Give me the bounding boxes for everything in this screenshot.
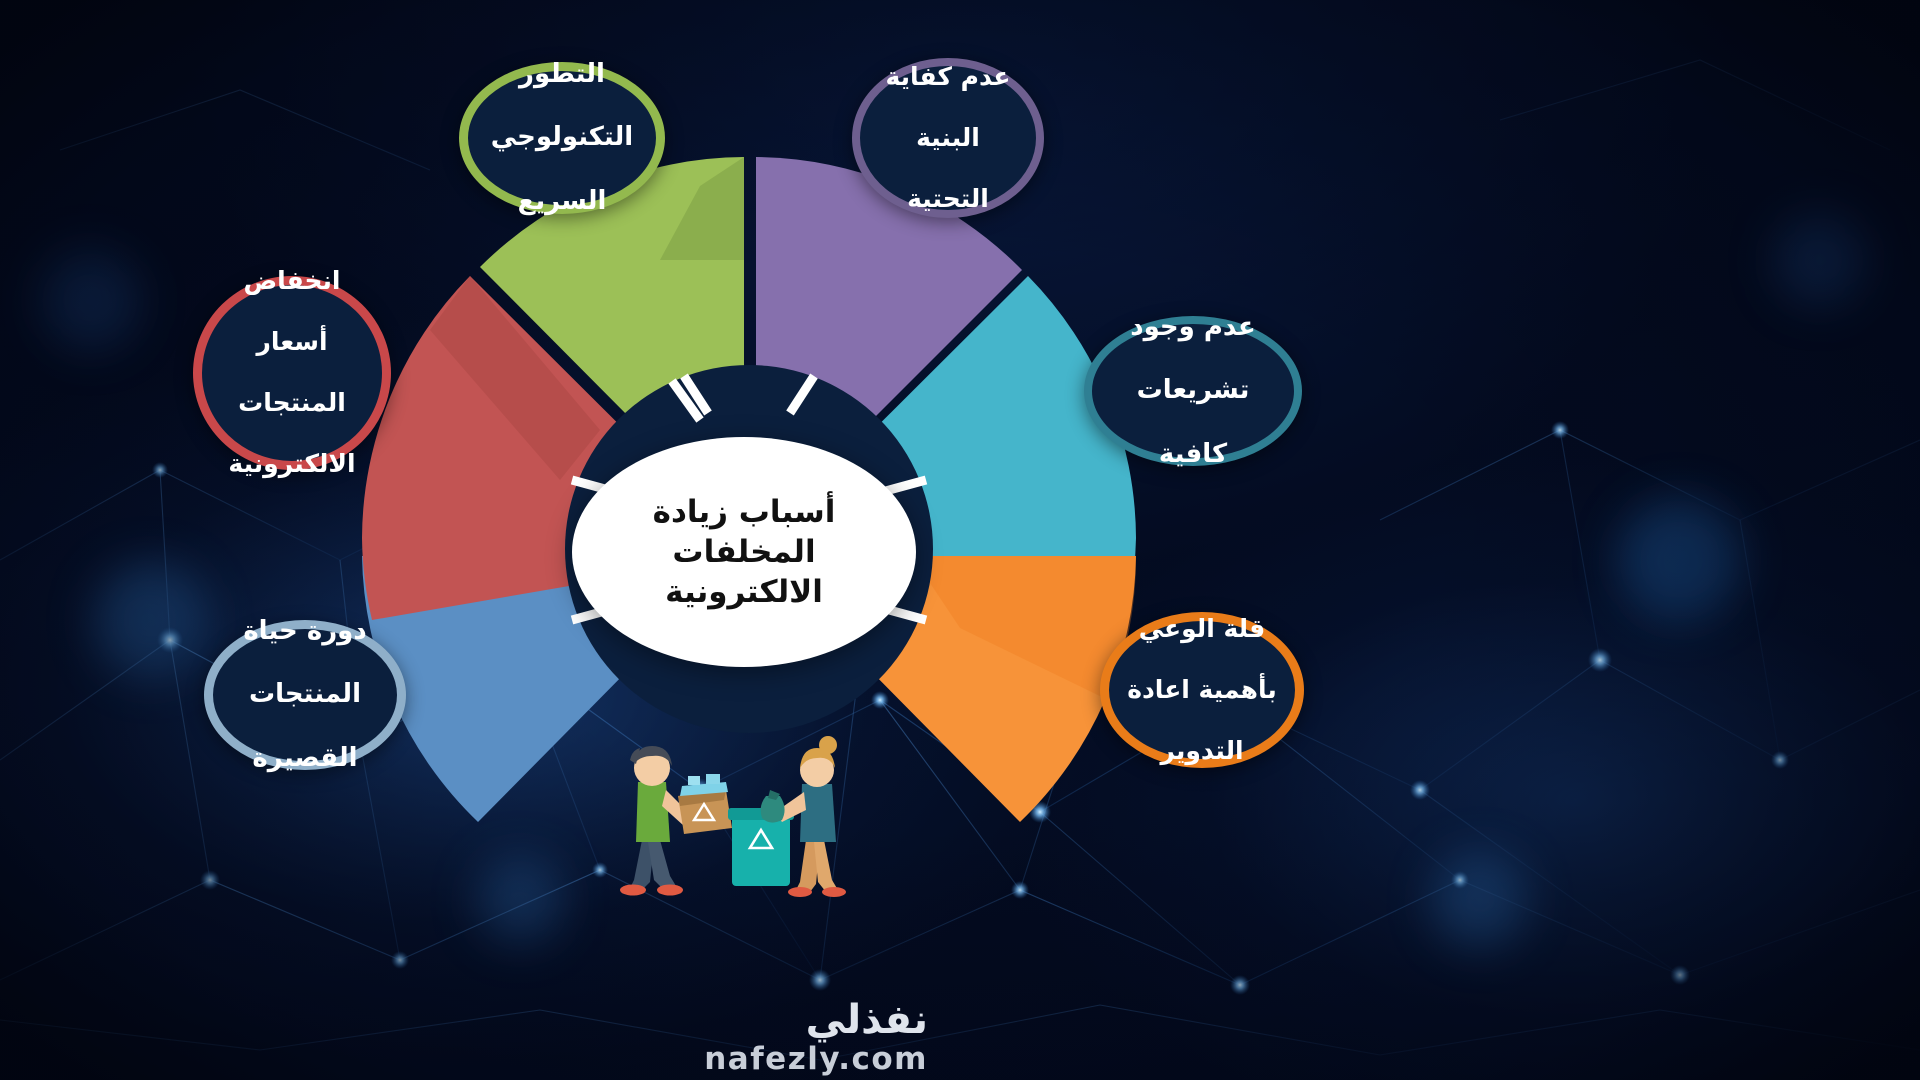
node-lifecycle-label: دورة حياةالمنتجاتالقصيرة bbox=[227, 616, 382, 775]
node-aware[interactable]: قلة الوعيبأهمية اعادةالتدوير bbox=[1100, 612, 1304, 768]
node-tech[interactable]: التطورالتكنولوجيالسريع bbox=[459, 62, 665, 214]
recycling-illustration bbox=[600, 690, 890, 900]
illustration-boy bbox=[620, 746, 732, 896]
node-price[interactable]: انخفاضأسعارالمنتجاتالالكترونية bbox=[193, 276, 391, 470]
node-tech-label: التطورالتكنولوجيالسريع bbox=[475, 59, 649, 218]
node-lifecycle[interactable]: دورة حياةالمنتجاتالقصيرة bbox=[204, 620, 406, 770]
node-legis[interactable]: عدم وجودتشريعاتكافية bbox=[1084, 316, 1302, 466]
node-infra-label: عدم كفايةالبنيةالتحتية bbox=[870, 62, 1027, 215]
center-title-oval[interactable]: أسباب زيادة المخلفات الالكترونية bbox=[572, 437, 916, 667]
node-legis-label: عدم وجودتشريعاتكافية bbox=[1114, 312, 1271, 471]
node-infra[interactable]: عدم كفايةالبنيةالتحتية bbox=[852, 58, 1044, 218]
logo-domain-text: nafezly.com bbox=[704, 1044, 928, 1075]
node-aware-label: قلة الوعيبأهمية اعادةالتدوير bbox=[1111, 614, 1293, 767]
logo-arabic-text: نفذلي bbox=[806, 1000, 928, 1040]
node-price-label: انخفاضأسعارالمنتجاتالالكترونية bbox=[212, 266, 371, 480]
center-title-text: أسباب زيادة المخلفات الالكترونية bbox=[627, 492, 862, 613]
nafezly-logo[interactable]: نفذلي nafezly.com bbox=[668, 1000, 928, 1078]
